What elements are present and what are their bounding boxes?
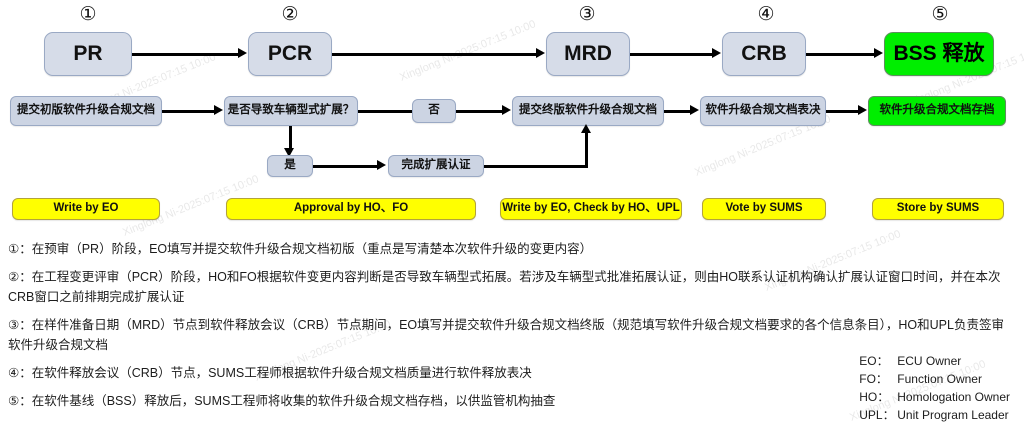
arrowhead-back-to-final: [581, 124, 591, 133]
legend-key: EO：: [859, 352, 897, 370]
role-bar-store-by-sums[interactable]: Store by SUMS: [872, 198, 1004, 220]
doc-box-type-extension-question[interactable]: 是否导致车辆型式扩展？: [224, 96, 358, 126]
watermark: Xinglong Ni-2025:07:15 10:00: [398, 18, 537, 84]
legend-row: FO： Function Owner: [859, 370, 1010, 388]
role-bar-vote-by-sums[interactable]: Vote by SUMS: [702, 198, 826, 220]
arrowhead-doc4: [502, 105, 511, 115]
arrowhead-bss: [874, 48, 883, 58]
legend-value: Homologation Owner: [897, 388, 1010, 406]
arrowhead-crb: [712, 48, 721, 58]
connector-pcr-to-mrd: [332, 53, 536, 56]
legend-row: UPL： Unit Program Leader: [859, 406, 1010, 424]
stage-box-bss[interactable]: BSS 释放: [884, 32, 994, 76]
stage-index-5: ⑤: [918, 5, 962, 24]
role-bar-approval-by-ho-fo[interactable]: Approval by HO、FO: [226, 198, 476, 220]
connector-action-right: [484, 165, 588, 168]
legend-value: ECU Owner: [897, 352, 961, 370]
connector-doc4-to-doc5: [664, 110, 690, 113]
stage-index-3: ③: [565, 5, 609, 24]
doc-box-complete-extension-cert[interactable]: 完成扩展认证: [388, 155, 484, 177]
arrowhead-pcr: [238, 48, 247, 58]
doc-box-final-submission[interactable]: 提交终版软件升级合规文档: [512, 96, 664, 126]
legend-value: Unit Program Leader: [897, 406, 1008, 424]
doc-box-vote[interactable]: 软件升级合规文档表决: [700, 96, 826, 126]
connector-crb-to-bss: [806, 53, 874, 56]
connector-mrd-to-crb: [630, 53, 712, 56]
arrowhead-doc2: [214, 105, 223, 115]
connector-pr-to-pcr: [132, 53, 238, 56]
connector-doc2-down-to-yes: [289, 126, 292, 150]
arrowhead-doc6: [858, 105, 867, 115]
stage-index-1: ①: [66, 5, 110, 24]
note-item: ③：在样件准备日期（MRD）节点到软件释放会议（CRB）节点期间，EO填写并提交…: [8, 316, 1016, 355]
connector-no-to-doc4: [456, 110, 502, 113]
doc-box-no-branch[interactable]: 否: [412, 99, 456, 123]
connector-action-up: [585, 128, 588, 167]
doc-box-archive[interactable]: 软件升级合规文档存档: [868, 96, 1006, 126]
connector-doc5-to-doc6: [826, 110, 858, 113]
stage-box-mrd[interactable]: MRD: [546, 32, 630, 76]
connector-yes-to-action: [313, 165, 377, 168]
role-bar-write-check[interactable]: Write by EO, Check by HO、UPL: [500, 198, 682, 220]
legend-value: Function Owner: [897, 370, 982, 388]
doc-box-yes-branch[interactable]: 是: [267, 155, 313, 177]
legend-key: UPL：: [859, 406, 897, 424]
arrowhead-mrd: [536, 48, 545, 58]
arrowhead-action: [377, 160, 386, 170]
legend-key: FO：: [859, 370, 897, 388]
arrowhead-doc5: [690, 105, 699, 115]
flowchart-canvas: Xinglong Ni-2025:07:15 10:00 Xinglong Ni…: [0, 0, 1024, 424]
stage-box-crb[interactable]: CRB: [722, 32, 806, 76]
doc-box-initial-submission[interactable]: 提交初版软件升级合规文档: [10, 96, 162, 126]
stage-box-pr[interactable]: PR: [44, 32, 132, 76]
stage-box-pcr[interactable]: PCR: [248, 32, 332, 76]
note-item: ①：在预审（PR）阶段，EO填写并提交软件升级合规文档初版（重点是写清楚本次软件…: [8, 240, 1016, 259]
connector-doc1-to-doc2: [162, 110, 214, 113]
stage-index-2: ②: [268, 5, 312, 24]
stage-index-4: ④: [744, 5, 788, 24]
legend-row: EO： ECU Owner: [859, 352, 1010, 370]
connector-doc2-to-no: [358, 110, 412, 113]
abbreviation-legend: EO： ECU Owner FO： Function Owner HO： Hom…: [859, 352, 1010, 424]
note-item: ②：在工程变更评审（PCR）阶段，HO和FO根据软件变更内容判断是否导致车辆型式…: [8, 268, 1016, 307]
legend-row: HO： Homologation Owner: [859, 388, 1010, 406]
role-bar-write-by-eo[interactable]: Write by EO: [12, 198, 160, 220]
legend-key: HO：: [859, 388, 897, 406]
